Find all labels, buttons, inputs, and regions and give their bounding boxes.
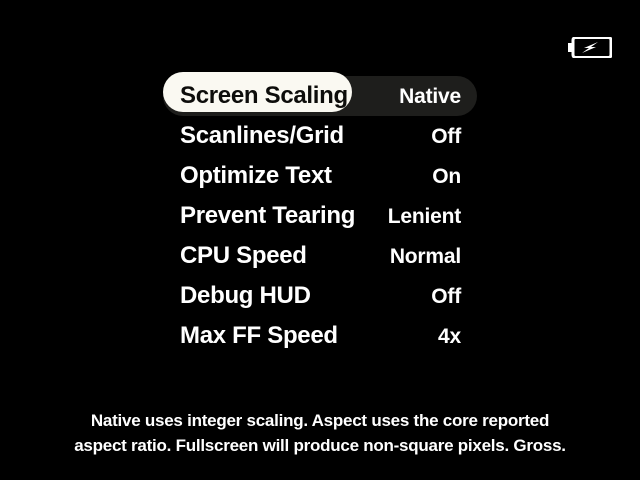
menu-item-label: Optimize Text bbox=[163, 164, 332, 188]
menu-item-value[interactable]: Normal bbox=[390, 246, 477, 267]
menu-item-label: Screen Scaling bbox=[163, 84, 348, 108]
menu-item-label: Scanlines/Grid bbox=[163, 124, 344, 148]
menu-item-prevent-tearing[interactable]: Prevent Tearing Lenient bbox=[163, 196, 477, 236]
menu-item-cpu-speed[interactable]: CPU Speed Normal bbox=[163, 236, 477, 276]
description-line-2: aspect ratio. Fullscreen will produce no… bbox=[0, 433, 640, 458]
menu-item-value[interactable]: Off bbox=[431, 286, 477, 307]
description-line-1: Native uses integer scaling. Aspect uses… bbox=[0, 408, 640, 433]
menu-item-value[interactable]: On bbox=[432, 166, 477, 187]
battery-charging-icon bbox=[568, 37, 612, 58]
menu-item-scanlines-grid[interactable]: Scanlines/Grid Off bbox=[163, 116, 477, 156]
settings-menu[interactable]: Screen Scaling Native Scanlines/Grid Off… bbox=[163, 76, 477, 356]
menu-item-optimize-text[interactable]: Optimize Text On bbox=[163, 156, 477, 196]
menu-item-label: Prevent Tearing bbox=[163, 204, 355, 228]
menu-item-max-ff-speed[interactable]: Max FF Speed 4x bbox=[163, 316, 477, 356]
menu-item-label: CPU Speed bbox=[163, 244, 307, 268]
menu-item-value[interactable]: Lenient bbox=[388, 206, 477, 227]
settings-screen: Screen Scaling Native Scanlines/Grid Off… bbox=[0, 0, 640, 480]
menu-item-debug-hud[interactable]: Debug HUD Off bbox=[163, 276, 477, 316]
menu-item-value[interactable]: Native bbox=[399, 86, 477, 107]
status-bar bbox=[0, 0, 640, 70]
menu-item-label: Max FF Speed bbox=[163, 324, 338, 348]
menu-item-screen-scaling[interactable]: Screen Scaling Native bbox=[163, 76, 477, 116]
menu-item-value[interactable]: 4x bbox=[438, 326, 477, 347]
menu-item-label: Debug HUD bbox=[163, 284, 311, 308]
menu-item-value[interactable]: Off bbox=[431, 126, 477, 147]
help-description: Native uses integer scaling. Aspect uses… bbox=[0, 408, 640, 458]
